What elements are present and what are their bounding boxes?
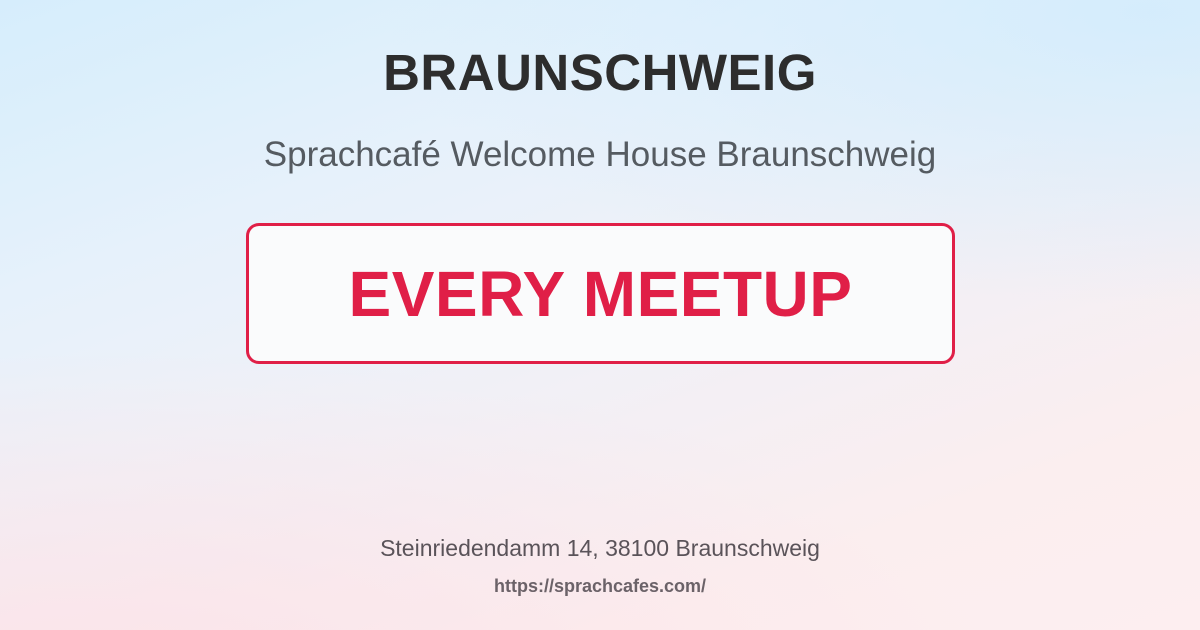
venue-subtitle: Sprachcafé Welcome House Braunschweig bbox=[0, 134, 1200, 176]
social-share-card: BRAUNSCHWEIG Sprachcafé Welcome House Br… bbox=[0, 0, 1200, 630]
venue-address: Steinriedendamm 14, 38100 Braunschweig bbox=[0, 534, 1200, 563]
card-content: BRAUNSCHWEIG Sprachcafé Welcome House Br… bbox=[0, 0, 1200, 630]
website-url: https://sprachcafes.com/ bbox=[0, 576, 1200, 598]
status-badge-label: EVERY MEETUP bbox=[349, 262, 853, 326]
status-badge: EVERY MEETUP bbox=[246, 223, 955, 364]
card-footer: Steinriedendamm 14, 38100 Braunschweig h… bbox=[0, 534, 1200, 598]
page-title: BRAUNSCHWEIG bbox=[0, 44, 1200, 101]
